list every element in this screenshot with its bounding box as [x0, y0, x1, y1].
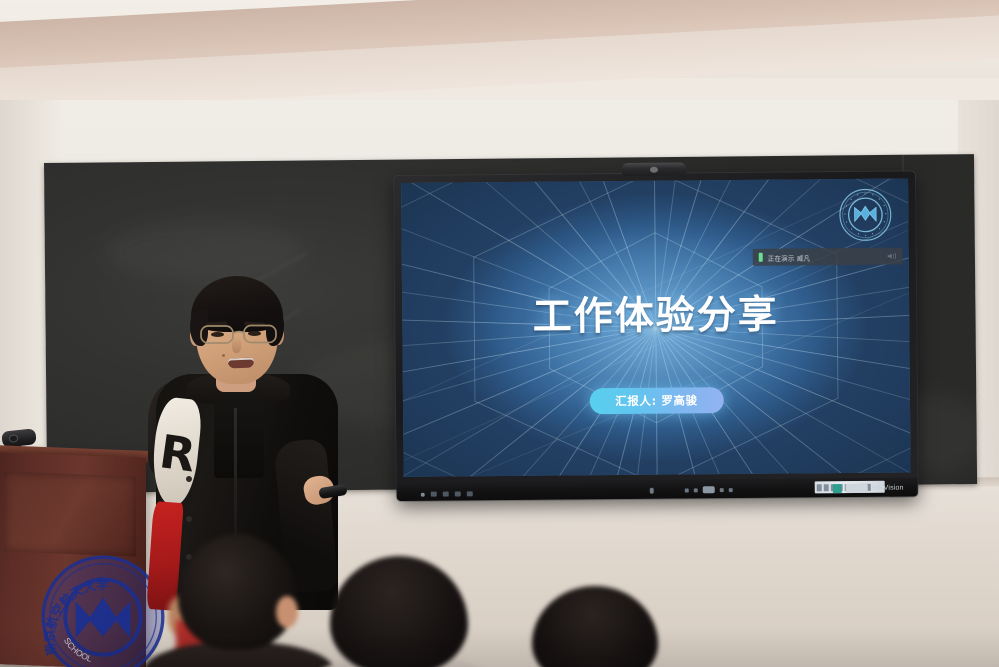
presenter-mouth	[228, 358, 254, 369]
chin-button[interactable]	[685, 488, 689, 492]
display-screen[interactable]: 正在演示 威凡 工作体验分享 汇报人: 罗高骏	[401, 179, 911, 477]
chin-label-icon	[431, 492, 437, 497]
chin-power-button[interactable]	[703, 486, 715, 493]
presenter-inner-shirt	[214, 382, 264, 478]
chin-label-icon	[443, 492, 449, 497]
chin-button[interactable]	[694, 488, 698, 492]
slide-title: 工作体验分享	[402, 283, 909, 343]
speaker-icon	[886, 252, 898, 261]
chin-label-icon	[467, 491, 473, 496]
microphone-icon	[650, 488, 654, 494]
presenter-mole	[222, 354, 225, 357]
classroom-scene: 正在演示 威凡 工作体验分享 汇报人: 罗高骏	[0, 0, 999, 667]
chin-label-icon	[455, 491, 461, 496]
chin-indicator-group	[421, 491, 473, 496]
chin-button[interactable]	[729, 488, 733, 492]
display-camera-bar	[622, 162, 686, 176]
power-led-icon	[421, 492, 425, 496]
camera-lens-icon	[650, 167, 658, 173]
toast-text: 正在演示 威凡	[768, 252, 811, 262]
chin-button-row[interactable]	[685, 486, 733, 493]
audience-member	[330, 556, 468, 667]
presenter-nose	[232, 337, 241, 353]
audience-head	[330, 556, 468, 667]
battery-icon	[759, 253, 763, 262]
brand-badge: HiKVision	[833, 484, 904, 494]
audience-head	[532, 586, 658, 667]
university-emblem-icon	[838, 188, 892, 242]
audience-head	[178, 534, 296, 650]
brand-swatch-icon	[833, 484, 842, 493]
smart-display[interactable]: 正在演示 威凡 工作体验分享 汇报人: 罗高骏	[394, 171, 918, 501]
podium-front-panel	[4, 471, 136, 556]
presentation-slide: 正在演示 威凡 工作体验分享 汇报人: 罗高骏	[401, 179, 911, 477]
audience-member	[178, 534, 296, 667]
chin-button[interactable]	[720, 488, 724, 492]
audience-ear	[276, 596, 298, 628]
audience-member	[532, 586, 658, 667]
brand-name: HiKVision	[872, 485, 904, 492]
notification-toast[interactable]: 正在演示 威凡	[753, 248, 903, 266]
presenter-pill: 汇报人: 罗高骏	[589, 387, 724, 414]
brand-swatch-icon	[846, 484, 868, 493]
jacket-snap-buttons	[186, 476, 192, 482]
